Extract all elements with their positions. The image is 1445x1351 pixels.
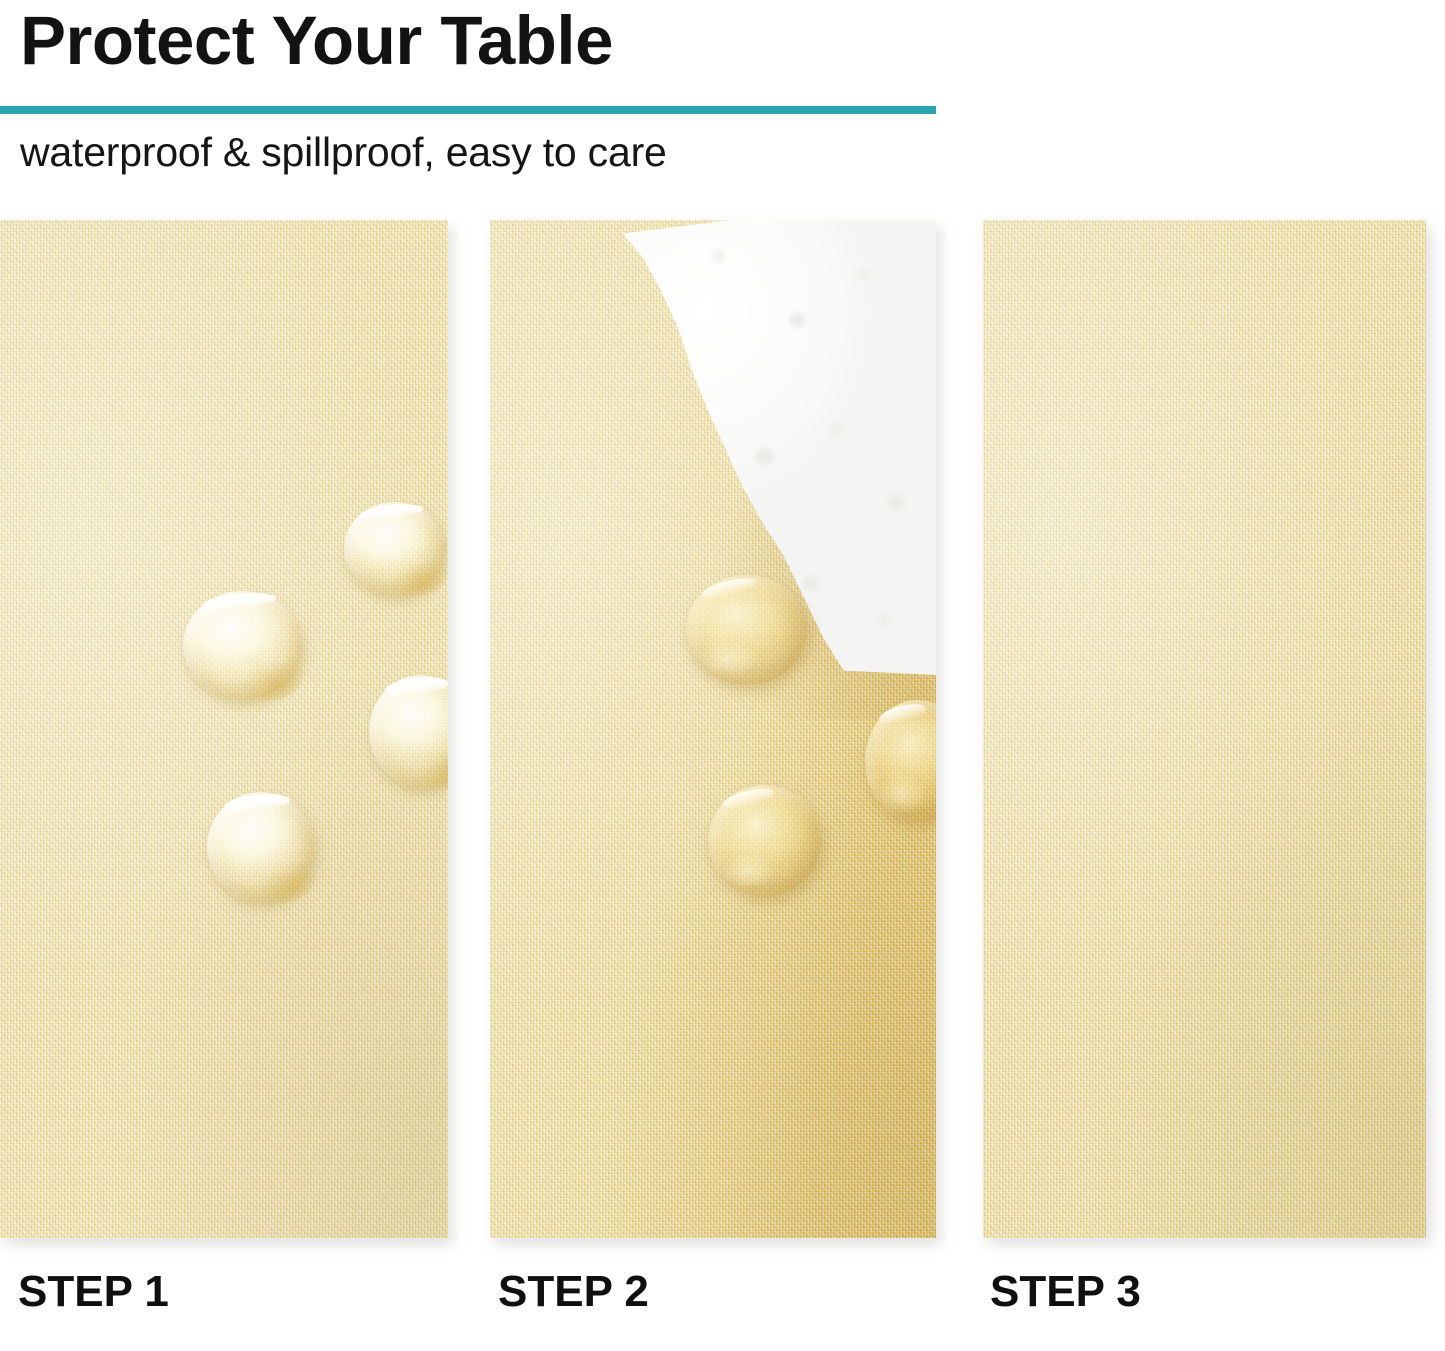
droplet-shadow-icon (400, 732, 448, 791)
step-1-label: STEP 1 (18, 1262, 169, 1322)
droplet-shadow-icon (703, 639, 766, 676)
water-droplet (183, 591, 302, 700)
panel-step-2 (490, 220, 936, 1238)
panel-step-3 (983, 220, 1426, 1238)
header-block: Protect Your Table waterproof & spillpro… (0, 0, 1445, 215)
panel-lighting (983, 220, 1426, 1238)
panel-strip (0, 220, 1445, 1240)
water-droplet (344, 502, 445, 595)
water-droplet (207, 792, 314, 902)
page-subtitle: waterproof & spillproof, easy to care (20, 126, 667, 178)
droplet-shadow-icon (724, 850, 783, 888)
panel-step-1 (0, 220, 448, 1238)
step-2-label: STEP 2 (498, 1262, 649, 1322)
water-droplet (686, 575, 807, 685)
step-label-row: STEP 1 STEP 2 STEP 3 (0, 1262, 1445, 1342)
step-3-label: STEP 3 (990, 1262, 1141, 1322)
droplet-shadow-icon (374, 549, 447, 597)
droplet-shadow-icon (880, 771, 935, 812)
droplet-shadow-icon (239, 847, 316, 904)
page-title: Protect Your Table (20, 0, 613, 83)
water-droplet (708, 785, 821, 897)
accent-divider (0, 106, 936, 114)
droplet-shadow-icon (219, 646, 305, 703)
